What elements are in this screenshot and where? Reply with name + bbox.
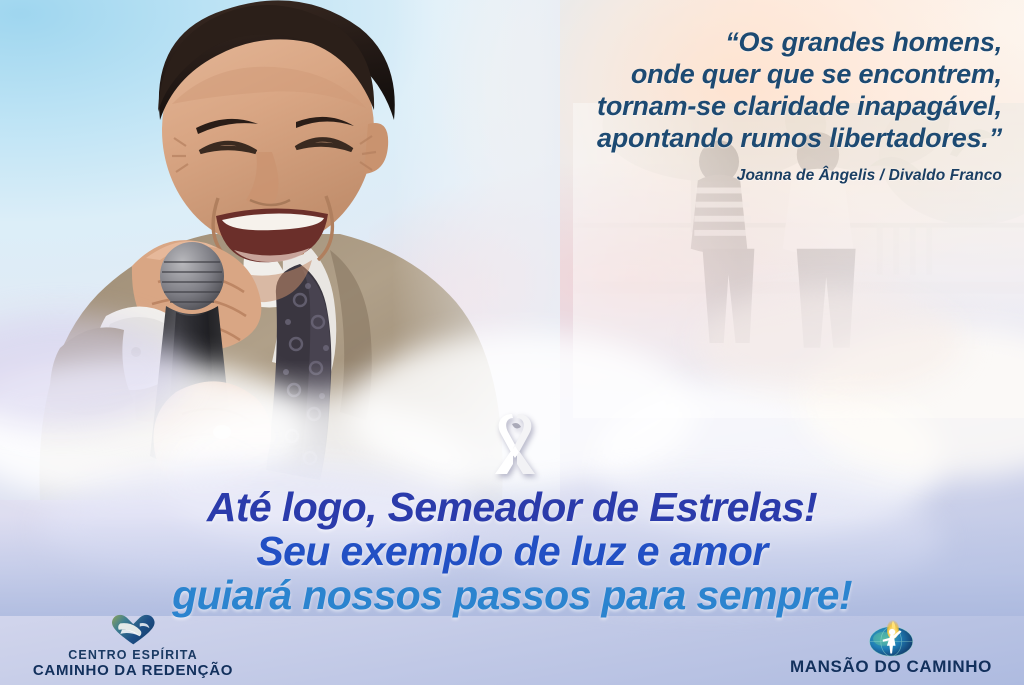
- quote-line-4: apontando rumos libertadores.”: [422, 122, 1002, 154]
- quote-line-3: tornam-se claridade inapagável,: [422, 90, 1002, 122]
- logo-right-line-1: MANSÃO DO CAMINHO: [766, 657, 1016, 677]
- quote-line-1: “Os grandes homens,: [422, 26, 1002, 58]
- headline-line-2: Seu exemplo de luz e amor: [0, 530, 1024, 572]
- white-ribbon-icon: [489, 408, 541, 480]
- logo-mansao-do-caminho: MANSÃO DO CAMINHO: [766, 621, 1016, 677]
- headline-block: Até logo, Semeador de Estrelas! Seu exem…: [0, 486, 1024, 617]
- logo-left-line-1: CENTRO ESPÍRITA: [8, 648, 258, 662]
- logo-left-line-2: CAMINHO DA REDENÇÃO: [8, 662, 258, 679]
- quote-line-2: onde quer que se encontrem,: [422, 58, 1002, 90]
- heart-hands-icon: [8, 612, 258, 646]
- headline-line-3: guiará nossos passos para sempre!: [0, 574, 1024, 616]
- memorial-poster: “Os grandes homens, onde quer que se enc…: [0, 0, 1024, 685]
- logo-centro-espirita: CENTRO ESPÍRITA CAMINHO DA REDENÇÃO: [8, 612, 258, 679]
- quote-block: “Os grandes homens, onde quer que se enc…: [422, 26, 1002, 185]
- quote-attribution: Joanna de Ângelis / Divaldo Franco: [422, 167, 1002, 185]
- globe-figure-icon: [766, 621, 1016, 655]
- headline-line-1: Até logo, Semeador de Estrelas!: [0, 486, 1024, 528]
